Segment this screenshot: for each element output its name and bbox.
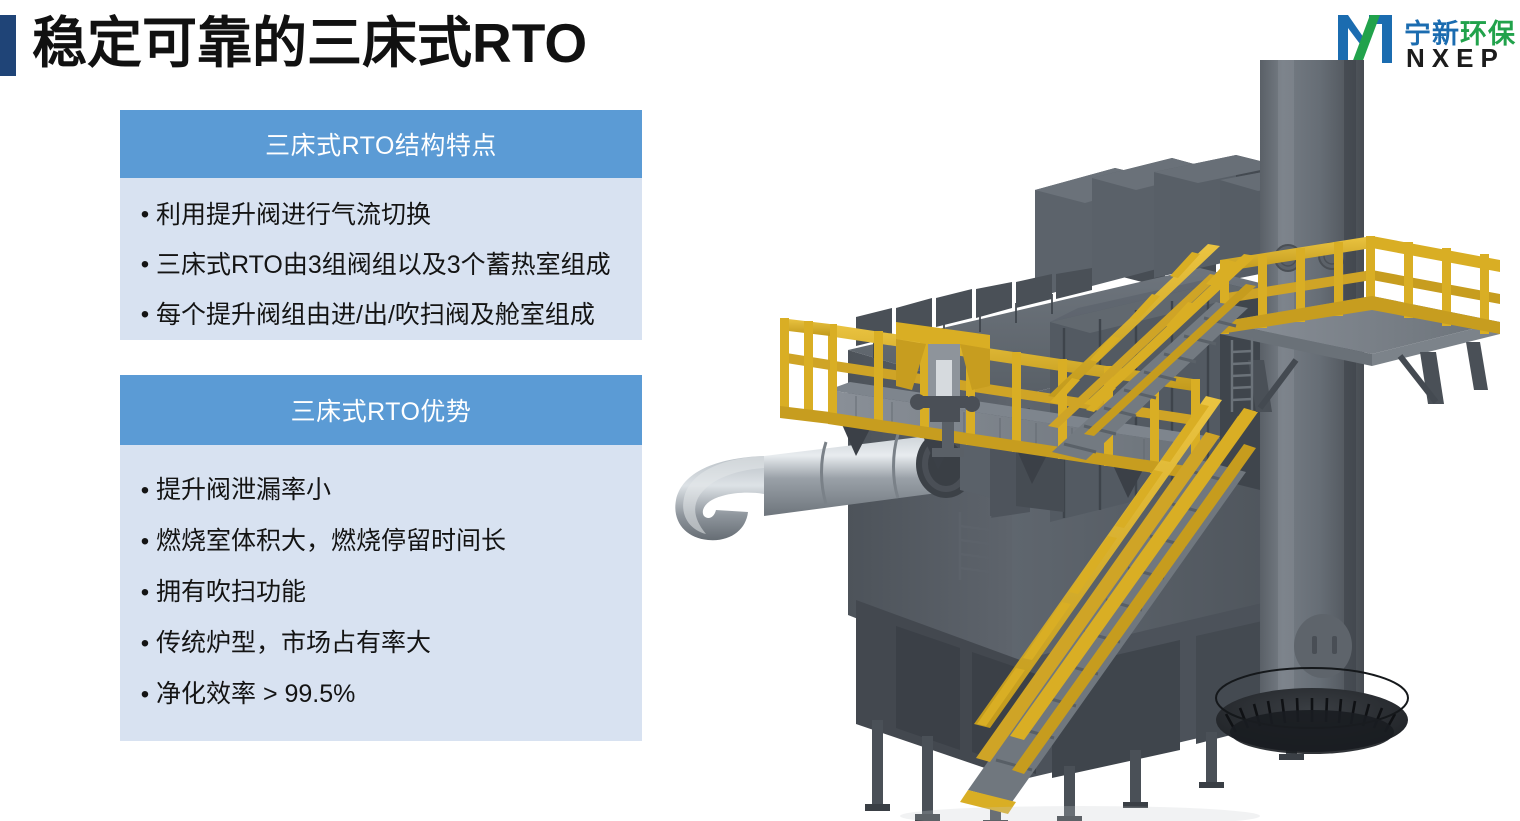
list-item-label: 每个提升阀组由进/出/吹扫阀及舱室组成 <box>156 290 626 340</box>
list-item-label: 拥有吹扫功能 <box>156 567 626 618</box>
list-item-label: 利用提升阀进行气流切换 <box>156 190 626 240</box>
bullet-dot-icon: • <box>134 516 156 567</box>
bullet-dot-icon: • <box>134 465 156 516</box>
bullet-dot-icon: • <box>134 567 156 618</box>
panel-advantages-body: • 提升阀泄漏率小 • 燃烧室体积大，燃烧停留时间长 • 拥有吹扫功能 • 传统… <box>120 445 642 741</box>
bullet-dot-icon: • <box>134 669 156 720</box>
bullet-dot-icon: • <box>134 618 156 669</box>
list-item: • 提升阀泄漏率小 <box>134 465 626 516</box>
list-item: • 燃烧室体积大，燃烧停留时间长 <box>134 516 626 567</box>
list-item: • 拥有吹扫功能 <box>134 567 626 618</box>
list-item: • 每个提升阀组由进/出/吹扫阀及舱室组成 <box>134 290 626 340</box>
bullet-dot-icon: • <box>134 240 156 290</box>
bullet-dot-icon: • <box>134 190 156 240</box>
rto-equipment-3d-render <box>660 60 1520 821</box>
list-item-label: 传统炉型，市场占有率大 <box>156 618 626 669</box>
list-item-label: 提升阀泄漏率小 <box>156 465 626 516</box>
panel-structure-features: 三床式RTO结构特点 • 利用提升阀进行气流切换 • 三床式RTO由3组阀组以及… <box>120 110 642 340</box>
slide-root: 稳定可靠的三床式RTO 宁新环保 NXEP 三床式RTO结构特点 • <box>0 0 1520 821</box>
nxep-monogram-icon <box>1336 12 1398 66</box>
panel-advantages: 三床式RTO优势 • 提升阀泄漏率小 • 燃烧室体积大，燃烧停留时间长 • 拥有… <box>120 375 642 741</box>
list-item: • 利用提升阀进行气流切换 <box>134 190 626 240</box>
list-item: • 三床式RTO由3组阀组以及3个蓄热室组成 <box>134 240 626 290</box>
list-item-label: 三床式RTO由3组阀组以及3个蓄热室组成 <box>156 240 626 290</box>
list-item-label: 净化效率 > 99.5% <box>156 669 626 720</box>
panel-structure-body: • 利用提升阀进行气流切换 • 三床式RTO由3组阀组以及3个蓄热室组成 • 每… <box>120 178 642 340</box>
title-accent-bar <box>0 15 16 76</box>
list-item: • 传统炉型，市场占有率大 <box>134 618 626 669</box>
list-item: • 净化效率 > 99.5% <box>134 669 626 720</box>
panel-structure-header: 三床式RTO结构特点 <box>120 110 642 178</box>
bullet-dot-icon: • <box>134 290 156 340</box>
panel-advantages-header: 三床式RTO优势 <box>120 375 642 445</box>
list-item-label: 燃烧室体积大，燃烧停留时间长 <box>156 516 626 567</box>
page-title: 稳定可靠的三床式RTO <box>32 5 587 81</box>
